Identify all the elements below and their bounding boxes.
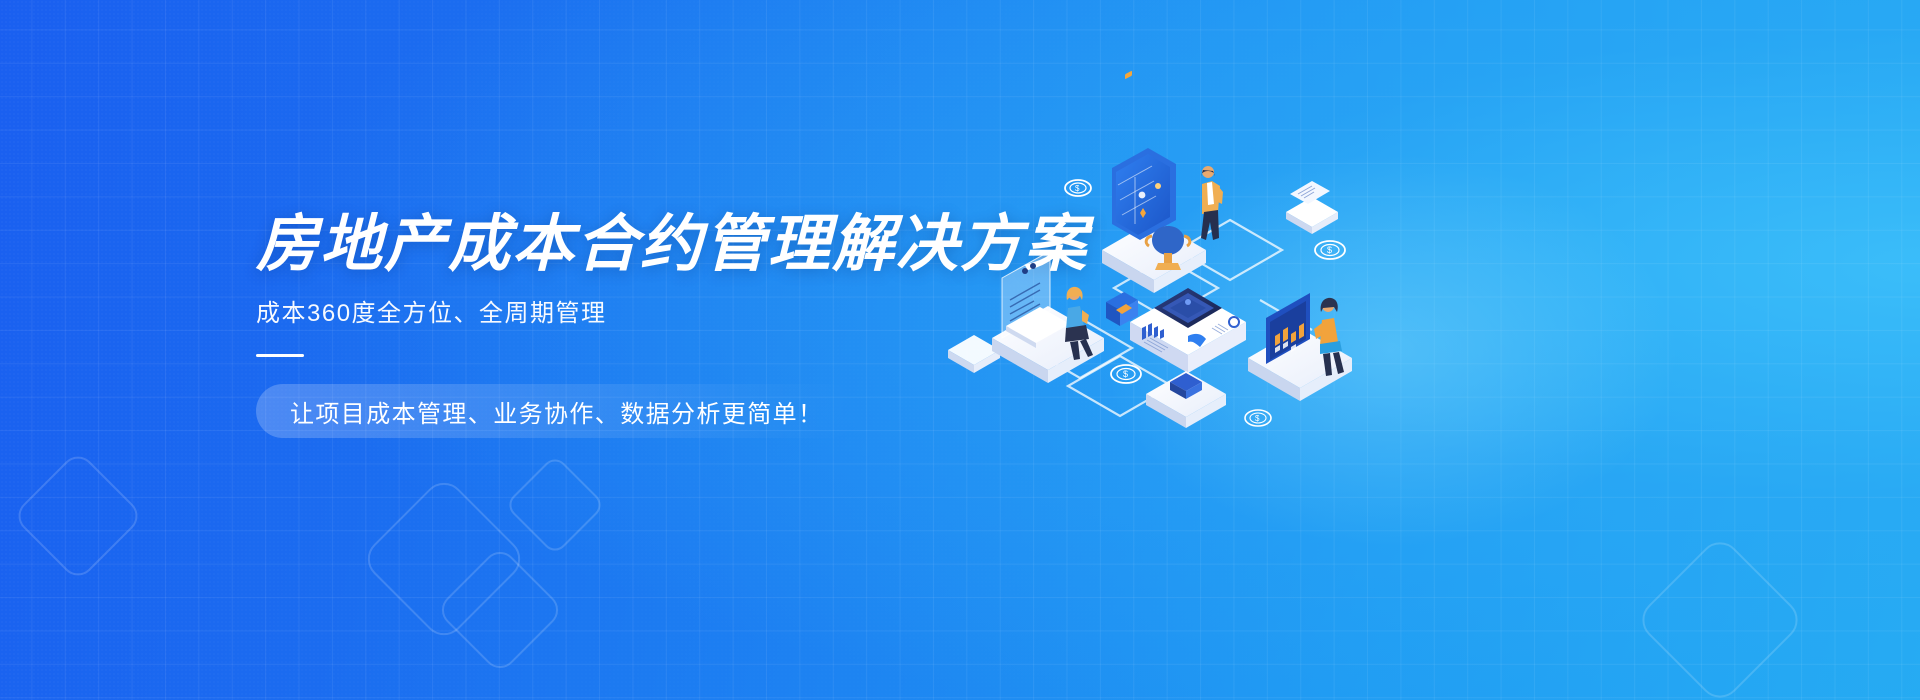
svg-text:$: $ — [1327, 245, 1332, 255]
title-divider — [256, 354, 304, 357]
hero-illustration: $ $ $ $ — [930, 150, 1400, 440]
svg-text:$: $ — [1075, 184, 1080, 193]
document-stack — [1286, 181, 1338, 234]
standing-man — [1201, 166, 1223, 240]
chart-monitor-group — [1248, 293, 1352, 401]
server-hub — [1118, 272, 1250, 373]
bottom-tile — [1146, 371, 1226, 428]
svg-text:$: $ — [1123, 369, 1128, 379]
hero-banner: 房地产成本合约管理解决方案 成本360度全方位、全周期管理 让项目成本管理、业务… — [0, 0, 1920, 700]
hero-cta-label: 让项目成本管理、业务协作、数据分析更简单！ — [290, 394, 823, 429]
svg-text:$: $ — [1255, 414, 1260, 423]
hero-cta-pill[interactable]: 让项目成本管理、业务协作、数据分析更简单！ — [256, 384, 857, 438]
